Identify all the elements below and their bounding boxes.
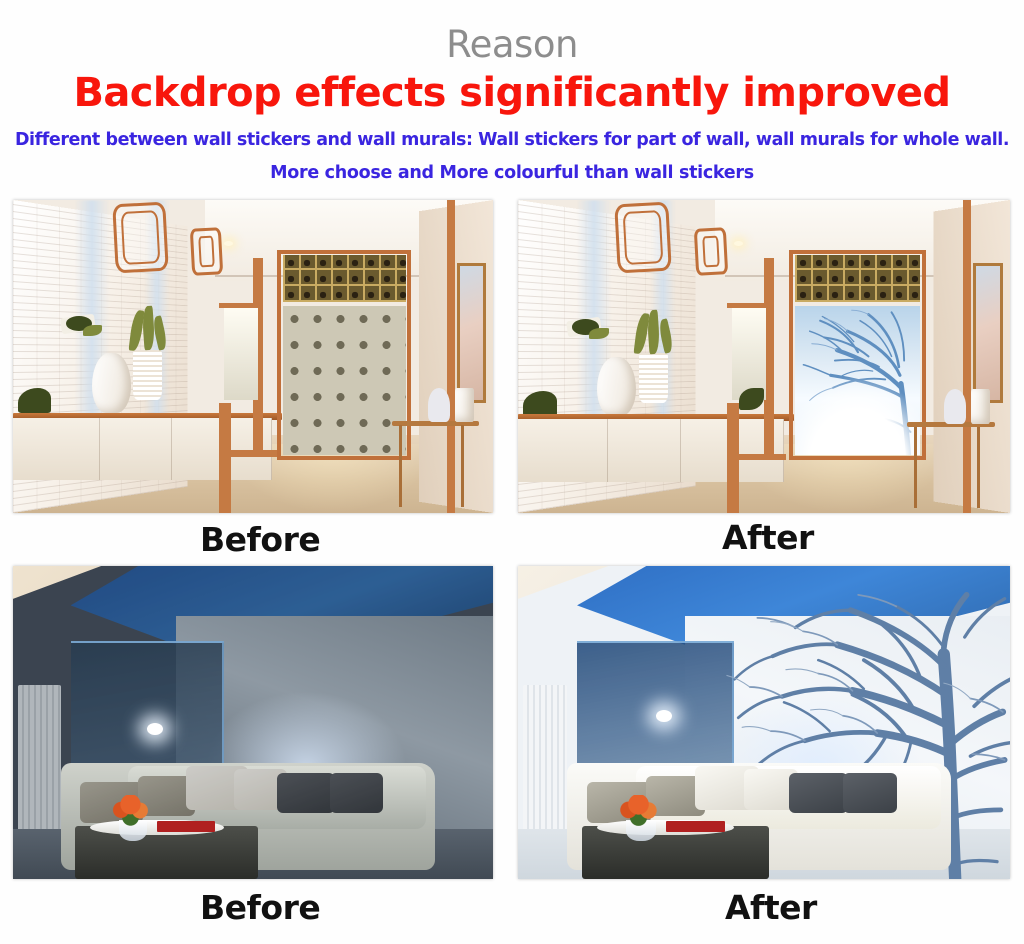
ceiling-spotlight xyxy=(656,710,672,722)
subtitle-line-2: More choose and More colourful than wall… xyxy=(0,163,1024,183)
kicker-text: Reason xyxy=(0,26,1024,63)
figurine-decor xyxy=(428,388,450,422)
promo-page: Reason Backdrop effects significantly im… xyxy=(0,0,1024,944)
plant-pot xyxy=(639,353,669,403)
caption-hallway-before: Before xyxy=(200,520,320,559)
lattice-screen-panel xyxy=(283,255,406,302)
caption-livingroom-before: Before xyxy=(200,888,320,927)
patterned-wallpaper-panel xyxy=(283,306,406,455)
flower-arrangement xyxy=(616,795,660,826)
decorative-lattice-art-2 xyxy=(189,227,223,276)
radiator xyxy=(18,685,61,842)
radiator xyxy=(523,685,567,842)
flower-arrangement xyxy=(109,795,152,826)
white-vase xyxy=(597,357,636,416)
hallway-after-photo xyxy=(518,200,1010,513)
caption-livingroom-after: After xyxy=(725,888,817,927)
tree-wall-mural xyxy=(795,306,921,455)
livingroom-before-photo xyxy=(13,566,493,879)
white-vase xyxy=(92,353,130,412)
side-wall-art xyxy=(457,263,486,404)
page-title: Backdrop effects significantly improved xyxy=(0,72,1024,114)
plant-pot xyxy=(133,350,162,400)
lattice-screen-panel xyxy=(795,255,921,302)
side-wall-art xyxy=(973,263,1003,404)
decorative-lattice-art-1 xyxy=(615,202,673,274)
decorative-lattice-art-2 xyxy=(694,227,728,276)
figurine-decor xyxy=(944,389,966,423)
hallway-before-photo xyxy=(13,200,493,513)
ceiling-spotlight xyxy=(147,723,163,735)
livingroom-after-photo xyxy=(518,566,1010,879)
subtitle-line-1: Different between wall stickers and wall… xyxy=(0,130,1024,150)
decorative-lattice-art-1 xyxy=(112,202,168,274)
caption-hallway-after: After xyxy=(722,518,814,557)
